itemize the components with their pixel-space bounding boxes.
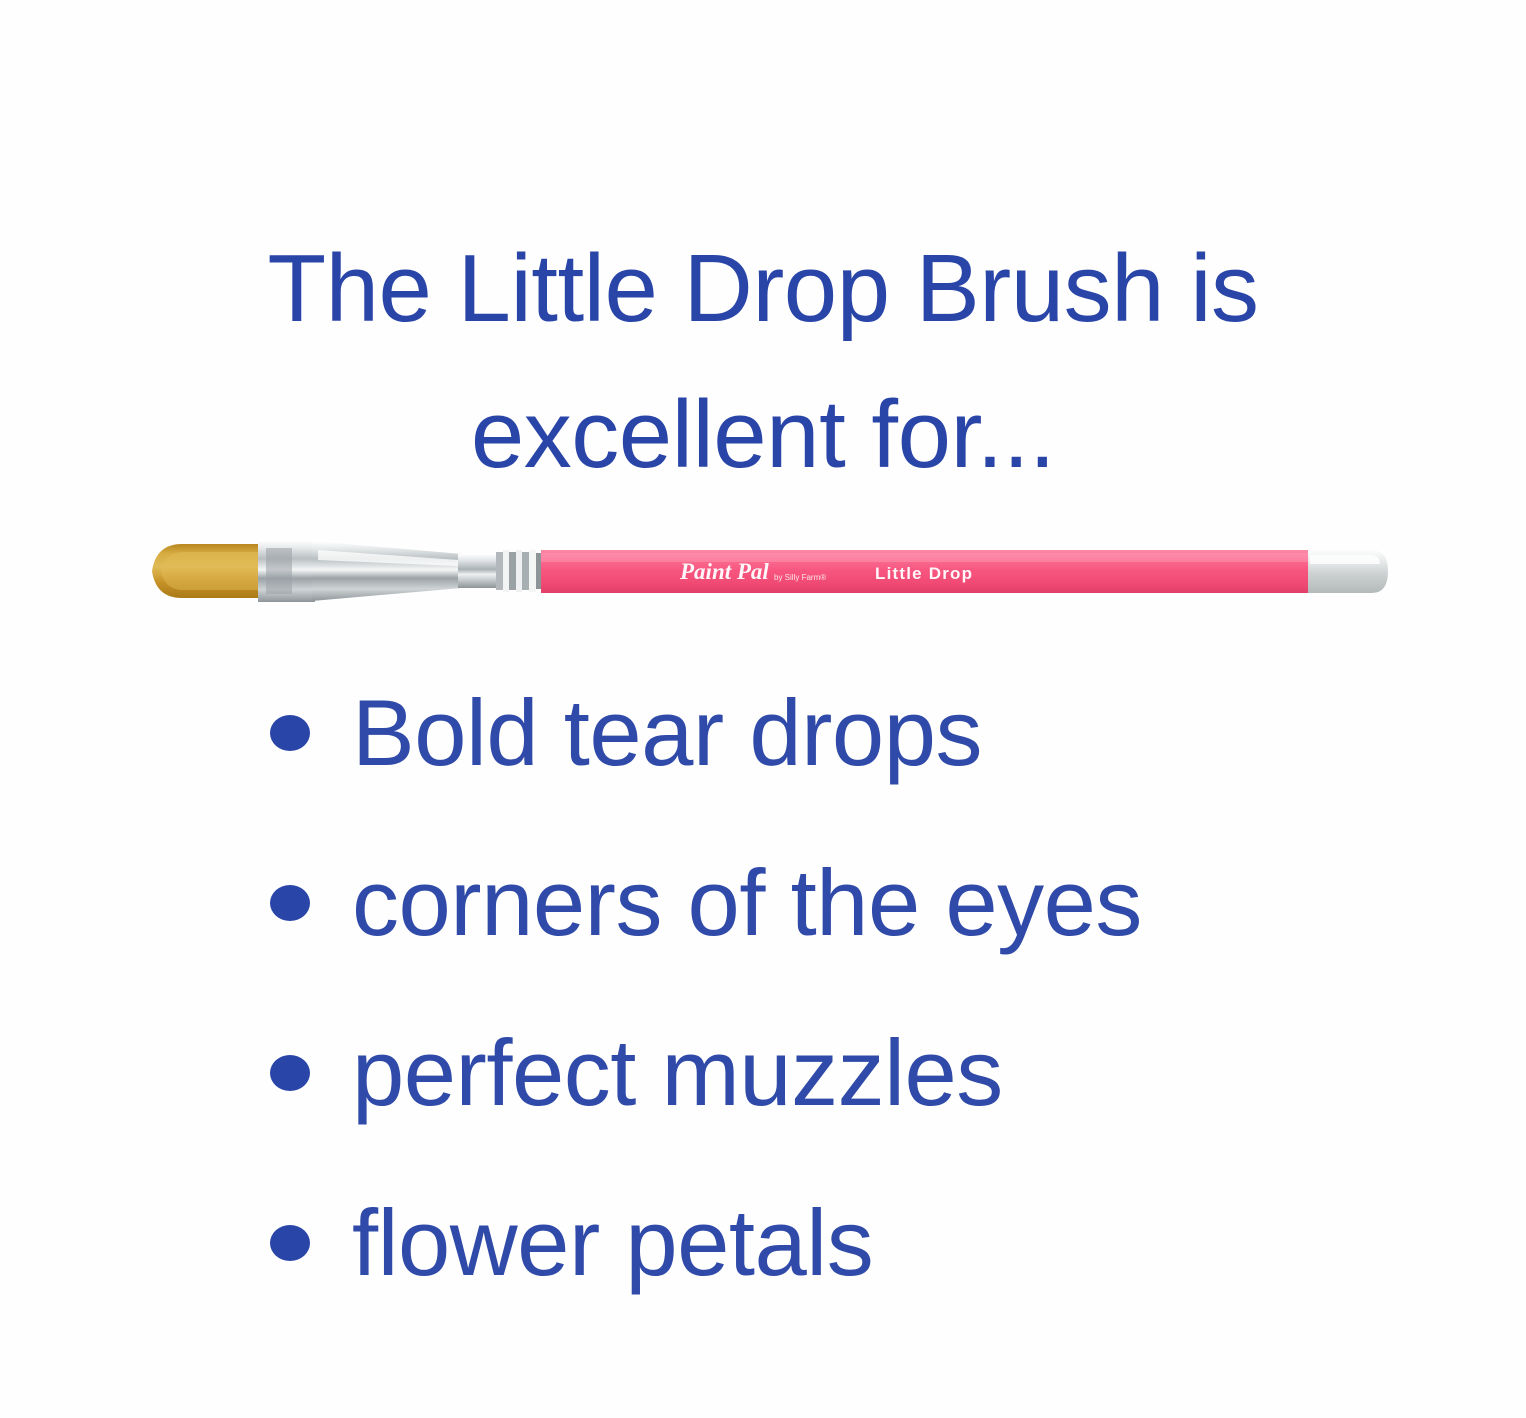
ferrule-shaft [458,554,498,588]
bullet-dot-icon [270,1055,310,1091]
handle-brand-text: Paint Pal [679,559,769,584]
crimp-ring-2 [503,550,509,592]
title-line-1: The Little Drop Brush is [0,216,1526,362]
crimp-ring-4 [516,550,522,592]
ferrule-taper [312,541,462,601]
handle-model-text: Little Drop [875,564,973,583]
feature-list: Bold tear drops corners of the eyes perf… [0,648,1526,1328]
bristle-sheen [161,552,260,590]
handle-brand-subtext: by Silly Farm® [774,573,826,582]
page-title: The Little Drop Brush is excellent for..… [0,216,1526,508]
ferrule-shadow [266,548,292,594]
list-item-label: flower petals [352,1196,873,1290]
bullet-dot-icon [270,715,310,751]
title-line-2: excellent for... [0,362,1526,508]
bullet-dot-icon [270,885,310,921]
crimp-ring-3 [509,552,516,590]
list-item-label: corners of the eyes [352,856,1142,950]
list-item-label: perfect muzzles [352,1026,1003,1120]
list-item-label: Bold tear drops [352,686,982,780]
end-cap-highlight [1310,555,1380,564]
brush-illustration: Paint Pal by Silly Farm® Little Drop [140,528,1400,614]
list-item: perfect muzzles [0,988,1526,1158]
list-item: flower petals [0,1158,1526,1328]
crimp-ring-1 [496,552,503,590]
slide-canvas: The Little Drop Brush is excellent for..… [0,0,1526,1418]
crimp-ring-5 [522,552,529,590]
list-item: corners of the eyes [0,818,1526,988]
list-item: Bold tear drops [0,648,1526,818]
handle-highlight [541,553,1311,562]
crimp-ring-6 [529,550,536,592]
bullet-dot-icon [270,1225,310,1261]
product-image-brush: Paint Pal by Silly Farm® Little Drop [140,528,1400,614]
